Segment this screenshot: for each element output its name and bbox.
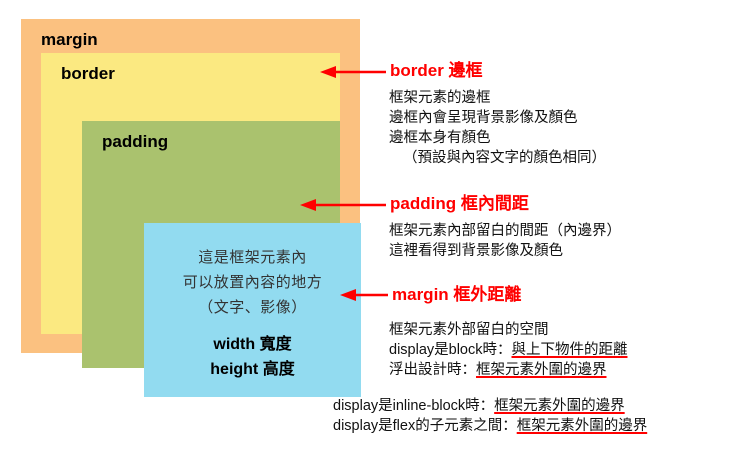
- content-width-label: width 寬度: [144, 332, 361, 357]
- annotation-padding-line-1: 框架元素內部留白的間距（內邊界）: [389, 221, 621, 241]
- annotation-extra-inline-block-underlined: 框架元素外圍的邊界: [494, 398, 625, 414]
- content-line-3: （文字、影像）: [144, 295, 361, 320]
- box-model-diagram: margin border padding 這是框架元素內 可以放置內容的地方 …: [21, 19, 360, 353]
- padding-layer-label: padding: [102, 133, 168, 150]
- content-height-label: height 高度: [144, 357, 361, 382]
- border-layer: border padding 這是框架元素內 可以放置內容的地方 （文字、影像）…: [41, 53, 340, 334]
- annotation-margin-block-underlined: 與上下物件的距離: [512, 342, 628, 358]
- annotation-margin-line-block: display是block時：與上下物件的距離: [389, 340, 628, 360]
- annotation-padding-line-2: 這裡看得到背景影像及顏色: [389, 241, 621, 261]
- annotation-body-margin: 框架元素外部留白的空間 display是block時：與上下物件的距離 浮出設計…: [389, 320, 628, 380]
- border-layer-label: border: [61, 65, 115, 82]
- annotation-margin-float-prefix: 浮出設計時：: [389, 362, 476, 378]
- annotation-border-line-1: 框架元素的邊框: [389, 88, 606, 108]
- margin-pointer-arrow-icon: [338, 289, 390, 301]
- annotation-body-border: 框架元素的邊框 邊框內會呈現背景影像及顏色 邊框本身有顏色 （預設與內容文字的顏…: [389, 88, 606, 168]
- annotation-body-extra: display是inline-block時：框架元素外圍的邊界 display是…: [333, 396, 647, 436]
- annotation-extra-flex-prefix: display是flex的子元素之間：: [333, 418, 517, 434]
- annotation-margin-line-1: 框架元素外部留白的空間: [389, 320, 628, 340]
- content-text-block: 這是框架元素內 可以放置內容的地方 （文字、影像） width 寬度 heigh…: [144, 245, 361, 382]
- annotation-margin-float-underlined: 框架元素外圍的邊界: [476, 362, 607, 378]
- annotation-extra-line-flex: display是flex的子元素之間：框架元素外圍的邊界: [333, 416, 647, 436]
- annotation-heading-padding: padding 框內間距: [390, 195, 529, 212]
- annotation-border-line-2: 邊框內會呈現背景影像及顏色: [389, 108, 606, 128]
- content-line-1: 這是框架元素內: [144, 245, 361, 270]
- padding-pointer-arrow-icon: [298, 199, 388, 211]
- margin-layer: margin border padding 這是框架元素內 可以放置內容的地方 …: [21, 19, 360, 353]
- content-layer: 這是框架元素內 可以放置內容的地方 （文字、影像） width 寬度 heigh…: [144, 223, 361, 397]
- annotation-extra-flex-underlined: 框架元素外圍的邊界: [517, 418, 648, 434]
- padding-layer: padding 這是框架元素內 可以放置內容的地方 （文字、影像） width …: [82, 121, 340, 368]
- annotation-margin-block-prefix: display是block時：: [389, 342, 512, 358]
- content-dimensions: width 寬度 height 高度: [144, 332, 361, 382]
- border-pointer-arrow-icon: [318, 66, 388, 78]
- annotation-heading-border: border 邊框: [390, 62, 483, 79]
- annotation-border-line-4: （預設與內容文字的顏色相同）: [389, 148, 606, 168]
- content-line-2: 可以放置內容的地方: [144, 270, 361, 295]
- annotation-extra-inline-block-prefix: display是inline-block時：: [333, 398, 494, 414]
- annotation-body-padding: 框架元素內部留白的間距（內邊界） 這裡看得到背景影像及顏色: [389, 221, 621, 261]
- margin-layer-label: margin: [41, 31, 98, 48]
- annotation-heading-margin: margin 框外距離: [392, 286, 521, 303]
- annotation-extra-line-inline-block: display是inline-block時：框架元素外圍的邊界: [333, 396, 647, 416]
- annotation-margin-line-float: 浮出設計時：框架元素外圍的邊界: [389, 360, 628, 380]
- annotation-border-line-3: 邊框本身有顏色: [389, 128, 606, 148]
